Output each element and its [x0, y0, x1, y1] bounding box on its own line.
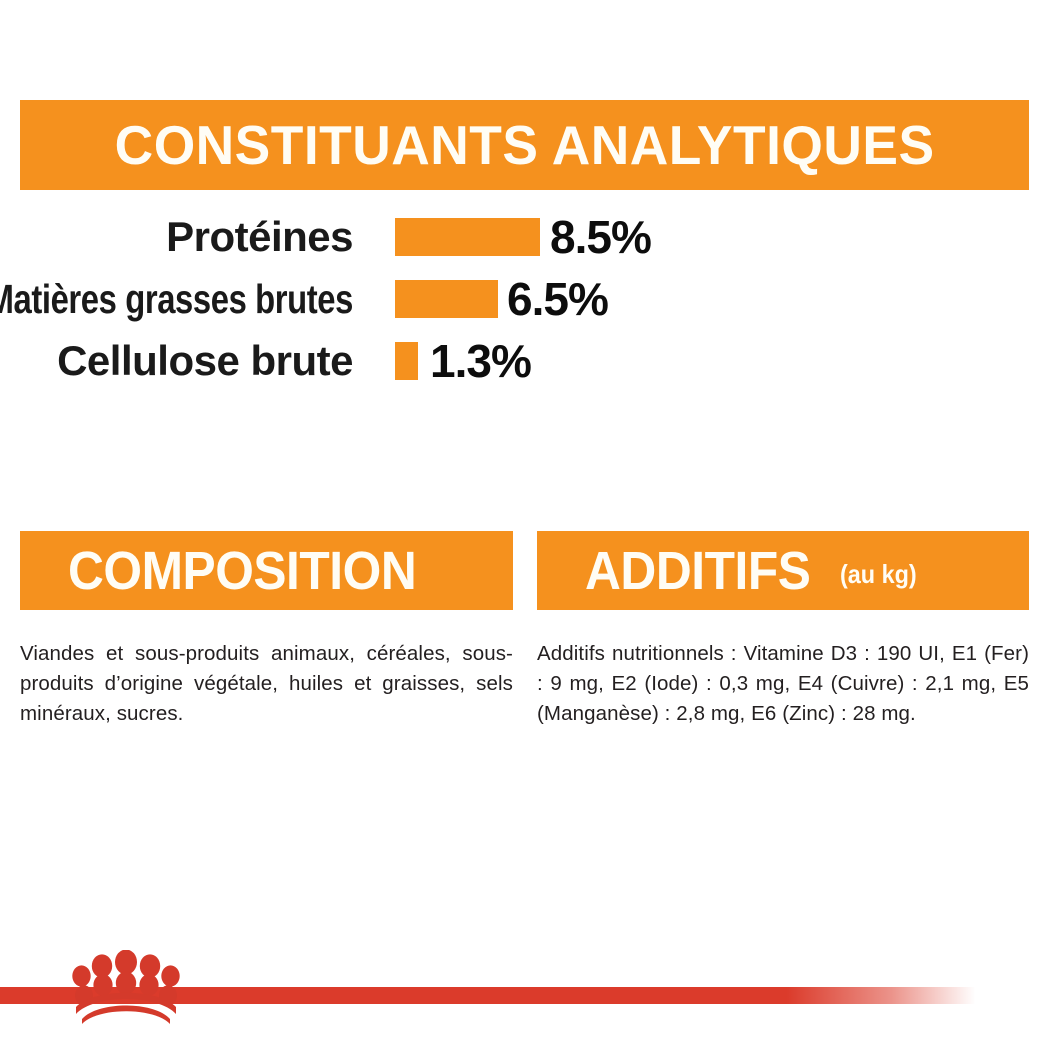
nutrient-value-proteines: 8.5%	[550, 206, 651, 268]
nutrient-label-proteines: Protéines	[166, 206, 353, 268]
nutrient-bar-cellulose-brute	[395, 342, 418, 380]
royal-canin-crown-icon	[72, 950, 180, 1025]
nutrient-bar-proteines	[395, 218, 540, 256]
nutrient-value-cellulose-brute: 1.3%	[430, 330, 531, 392]
analytical-constituents-chart: Protéines 8.5% Matières grasses brutes 6…	[0, 206, 1049, 392]
composition-title: COMPOSITION	[68, 544, 416, 598]
nutrient-row: Matières grasses brutes 6.5%	[0, 268, 1049, 330]
nutrient-label-matieres-grasses-brutes: Matières grasses brutes	[0, 268, 353, 330]
composition-header: COMPOSITION	[20, 531, 513, 610]
additives-subtitle: (au kg)	[840, 561, 917, 587]
additives-title: ADDITIFS	[585, 544, 810, 598]
nutrition-panel: CONSTITUANTS ANALYTIQUES Protéines 8.5% …	[0, 0, 1049, 1049]
additives-header: ADDITIFS (au kg)	[537, 531, 1029, 610]
analytical-constituents-header: CONSTITUANTS ANALYTIQUES	[20, 100, 1029, 190]
nutrient-row: Protéines 8.5%	[0, 206, 1049, 268]
nutrient-row: Cellulose brute 1.3%	[0, 330, 1049, 392]
composition-text: Viandes et sous-produits animaux, céréal…	[20, 639, 513, 729]
analytical-constituents-title: CONSTITUANTS ANALYTIQUES	[115, 118, 935, 173]
nutrient-value-matieres-grasses-brutes: 6.5%	[507, 268, 608, 330]
additives-text: Additifs nutritionnels : Vitamine D3 : 1…	[537, 639, 1029, 729]
nutrient-bar-matieres-grasses-brutes	[395, 280, 498, 318]
nutrient-label-cellulose-brute: Cellulose brute	[57, 330, 353, 392]
